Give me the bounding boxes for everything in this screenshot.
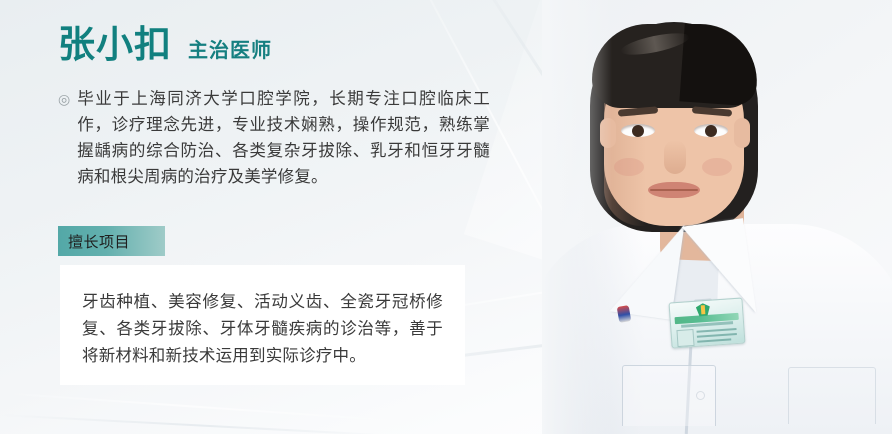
doctor-name: 张小扣 — [58, 27, 172, 64]
eye-left — [621, 124, 655, 137]
doctor-bio: ◎ 毕业于上海同济大学口腔学院，长期专注口腔临床工作，诊疗理念先进，专业技术娴熟… — [58, 86, 490, 190]
specialty-text: 牙齿种植、美容修复、活动义齿、全瓷牙冠桥修复、各类牙拔除、牙体牙髓疾病的诊治等，… — [82, 289, 443, 370]
badge-field-line — [697, 333, 737, 338]
specialty-tag: 擅长项目 — [58, 226, 165, 256]
lapel-pin — [617, 305, 632, 323]
coat-pocket-left — [622, 365, 716, 426]
badge-field-line — [697, 328, 737, 333]
id-badge-icon — [668, 297, 745, 348]
doctor-name-row: 张小扣 主治医师 — [58, 27, 272, 64]
doctor-photo — [542, 0, 892, 434]
doctor-title: 主治医师 — [188, 41, 272, 61]
iris-left — [632, 125, 644, 137]
badge-field-line — [697, 338, 731, 342]
ear-right — [734, 118, 750, 148]
cheek-left — [614, 158, 644, 176]
eye-right — [694, 124, 728, 137]
specialty-tag-label: 擅长项目 — [68, 231, 130, 252]
lip-line — [650, 189, 698, 191]
ear-left — [600, 118, 616, 148]
nose — [664, 140, 686, 174]
doctor-profile-banner: 张小扣 主治医师 ◎ 毕业于上海同济大学口腔学院，长期专注口腔临床工作，诊疗理念… — [0, 0, 892, 434]
bullet-icon: ◎ — [58, 86, 70, 112]
specialty-card: 牙齿种植、美容修复、活动义齿、全瓷牙冠桥修复、各类牙拔除、牙体牙髓疾病的诊治等，… — [60, 265, 465, 385]
profile-text-column: 张小扣 主治医师 ◎ 毕业于上海同济大学口腔学院，长期专注口腔临床工作，诊疗理念… — [58, 0, 478, 434]
doctor-bio-text: 毕业于上海同济大学口腔学院，长期专注口腔临床工作，诊疗理念先进，专业技术娴熟，操… — [77, 86, 490, 190]
cheek-right — [702, 158, 732, 176]
badge-portrait — [676, 329, 694, 347]
iris-right — [705, 125, 717, 137]
coat-pocket-right — [788, 367, 876, 424]
